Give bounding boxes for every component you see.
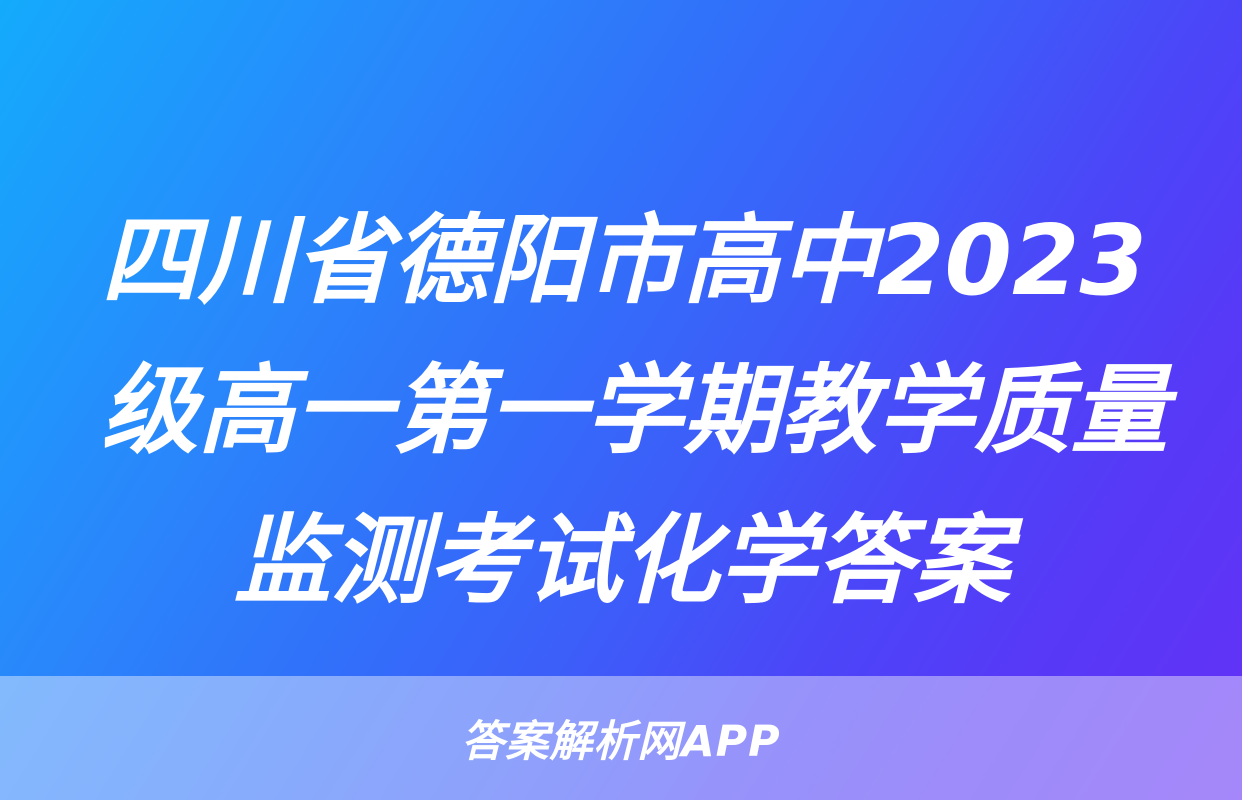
- title-char: 德: [392, 186, 489, 336]
- title-char: 第: [392, 336, 489, 486]
- title-line-3: 监测考试化学答案: [101, 486, 1143, 636]
- title-char: 质: [974, 336, 1071, 486]
- title-char: 期: [683, 336, 780, 486]
- title-char: 学: [586, 336, 683, 486]
- hero-gradient-background: 四 川 省 德 阳 市 高 中 2023 级 高 一 第 一 学 期 教 学 质: [0, 0, 1242, 676]
- title-char: 学: [877, 336, 974, 486]
- footer-band: 答案解析网APP: [0, 676, 1242, 800]
- title-char: 教: [780, 336, 877, 486]
- title-char: 级: [101, 336, 198, 486]
- title-char: 量: [1071, 336, 1168, 486]
- title-char: 中: [780, 186, 877, 336]
- title-char: 高: [198, 336, 295, 486]
- title-char: 川: [198, 186, 295, 336]
- title-char: 一: [295, 336, 392, 486]
- footer-brand-label: 答案解析网APP: [0, 676, 1242, 800]
- poster-canvas: 四 川 省 德 阳 市 高 中 2023 级 高 一 第 一 学 期 教 学 质: [0, 0, 1242, 800]
- title-char: 高: [683, 186, 780, 336]
- title-year: 2023: [877, 186, 1147, 336]
- poster-title: 四 川 省 德 阳 市 高 中 2023 级 高 一 第 一 学 期 教 学 质: [101, 186, 1143, 636]
- title-char: 一: [489, 336, 586, 486]
- title-char: 市: [586, 186, 683, 336]
- title-char: 四: [101, 186, 198, 336]
- title-char: 省: [295, 186, 392, 336]
- title-char: 阳: [489, 186, 586, 336]
- title-line-1: 四 川 省 德 阳 市 高 中 2023: [101, 186, 1143, 336]
- title-line-2: 级 高 一 第 一 学 期 教 学 质 量: [101, 336, 1143, 486]
